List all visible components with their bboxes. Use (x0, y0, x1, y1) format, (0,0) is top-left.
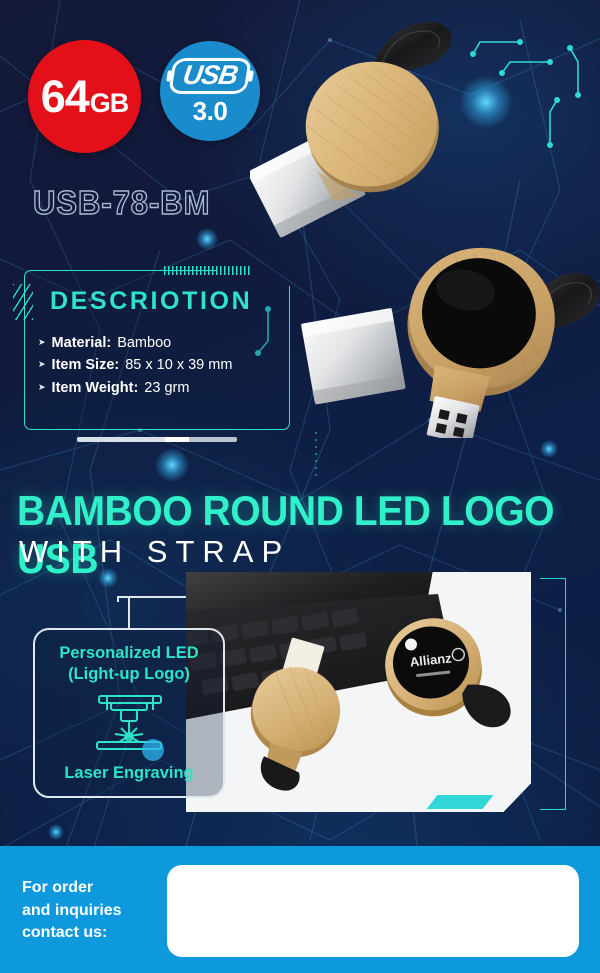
description-value: 85 x 10 x 39 mm (125, 354, 232, 376)
footer-bar: For order and inquiries contact us: (0, 846, 600, 973)
led-title-line2: (Light-up Logo) (59, 664, 198, 685)
description-item: ➤ Material: Bamboo (38, 332, 288, 354)
glow-dot (540, 440, 558, 458)
footer-contact-label: For order and inquiries contact us: (22, 877, 122, 945)
description-label: Material: (52, 332, 112, 354)
description-title: DESCRIOTION (50, 287, 252, 316)
model-code: USB-78-BM (33, 184, 210, 222)
photo-frame-accent (427, 795, 494, 809)
bullet-arrow-icon: ➤ (38, 381, 46, 395)
description-list: ➤ Material: Bamboo ➤ Item Size: 85 x 10 … (38, 332, 288, 399)
glow-dot (155, 448, 189, 482)
description-item: ➤ Item Size: 85 x 10 x 39 mm (38, 354, 288, 376)
description-value: 23 grm (144, 377, 189, 399)
capacity-unit: GB (90, 90, 129, 117)
led-box-stem (128, 598, 130, 630)
usb-version-badge: USB 3.0 (160, 41, 260, 141)
usb-logo-icon: USB (168, 58, 252, 94)
description-item: ➤ Item Weight: 23 grm (38, 377, 288, 399)
footer-line3: contact us: (22, 922, 122, 945)
personalized-led-box: Personalized LED (Light-up Logo) Laser E… (33, 628, 225, 798)
description-label: Item Weight: (52, 377, 139, 399)
usb-word: USB (181, 60, 240, 90)
laser-engraving-icon (83, 690, 175, 766)
page-subtitle: WITH STRAP (19, 534, 290, 570)
description-accent-bar (77, 437, 237, 442)
footer-line2: and inquiries (22, 900, 122, 923)
product-photo: Allianz (186, 572, 531, 812)
description-value: Bamboo (117, 332, 171, 354)
capacity-number: 64 (41, 74, 89, 119)
led-box-caption: Laser Engraving (35, 764, 223, 783)
product-render-pair (250, 18, 600, 438)
product-poster: 64 GB USB 3.0 USB-78-BM (0, 0, 600, 973)
footer-line1: For order (22, 877, 122, 900)
led-box-title: Personalized LED (Light-up Logo) (59, 643, 198, 684)
capacity-badge: 64 GB (28, 40, 141, 153)
description-tick-decoration (13, 284, 33, 320)
description-panel: DESCRIOTION ➤ Material: Bamboo ➤ Item Si… (24, 270, 290, 430)
photo-frame-bracket (540, 578, 566, 810)
glow-dot (196, 228, 218, 250)
glow-dot (48, 824, 64, 840)
description-hatch-decoration (164, 266, 252, 275)
description-label: Item Size: (52, 354, 120, 376)
led-title-line1: Personalized LED (59, 643, 198, 664)
bullet-arrow-icon: ➤ (38, 336, 46, 350)
contact-details-field[interactable] (167, 865, 579, 957)
usb-version: 3.0 (193, 98, 228, 124)
bullet-arrow-icon: ➤ (38, 358, 46, 372)
